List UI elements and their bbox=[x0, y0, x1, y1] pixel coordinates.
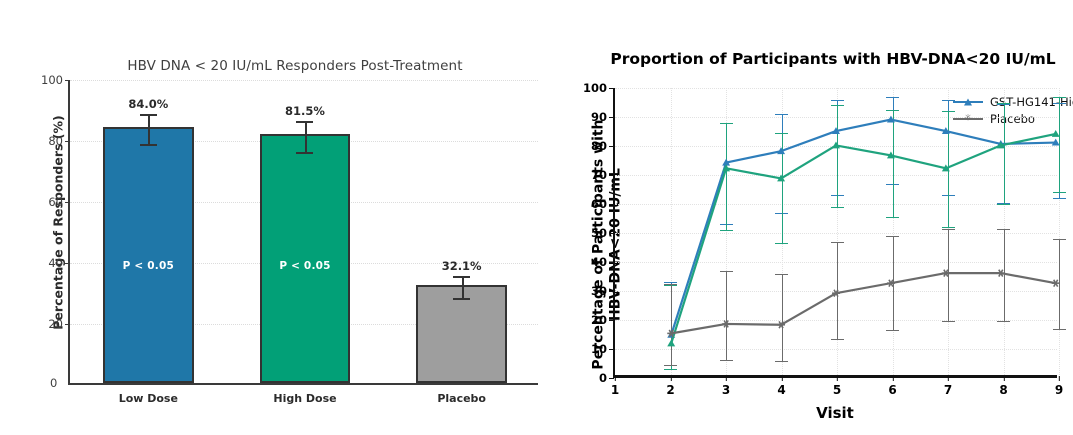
line-chart-plot-area: GST-HG141-High dose✳Placebo 010203040506… bbox=[613, 88, 1057, 378]
line-chart-marker bbox=[832, 141, 840, 148]
line-chart-y-tick: 50 bbox=[591, 226, 607, 240]
legend-swatch bbox=[953, 96, 983, 108]
line-chart-error-cap bbox=[997, 321, 1010, 322]
bar-chart-pvalue-annotation: P < 0.05 bbox=[260, 260, 351, 272]
bar-chart-bar-group: 81.5%P < 0.05High Dose bbox=[260, 80, 351, 383]
bar-chart-plot-area: 0 2040608010084.0%P < 0.05Low Dose81.5%P… bbox=[68, 80, 538, 385]
line-chart-error-cap bbox=[775, 274, 788, 275]
line-chart-series-layer bbox=[615, 88, 1057, 375]
bar-chart-error-cap bbox=[140, 114, 157, 116]
line-chart-error-cap bbox=[1053, 329, 1066, 330]
line-chart-gridline bbox=[615, 146, 1057, 147]
bar-chart-error-cap bbox=[453, 298, 470, 300]
line-chart-error-cap bbox=[775, 243, 788, 244]
bar-chart-y-tick: 100 bbox=[41, 73, 63, 87]
line-chart-error-cap bbox=[942, 229, 955, 230]
line-chart-error-cap bbox=[942, 100, 955, 101]
line-chart-error-cap bbox=[997, 229, 1010, 230]
line-chart-error-cap bbox=[720, 271, 733, 272]
line-chart-gridline bbox=[615, 233, 1057, 234]
line-chart-error-cap bbox=[775, 361, 788, 362]
bar-chart-error-bar bbox=[305, 121, 307, 152]
bar-chart-value-label: 32.1% bbox=[416, 259, 507, 273]
figure-panel: HBV DNA < 20 IU/mL Responders Post-Treat… bbox=[0, 0, 1073, 435]
bar-chart-error-cap bbox=[140, 144, 157, 146]
line-chart-error-cap bbox=[1053, 192, 1066, 193]
line-chart-x-tick: 7 bbox=[944, 383, 952, 397]
bar-chart-title: HBV DNA < 20 IU/mL Responders Post-Treat… bbox=[60, 58, 530, 74]
line-chart-gridline bbox=[615, 320, 1057, 321]
line-chart-error-bar bbox=[1059, 97, 1060, 193]
line-chart-x-tick: 4 bbox=[777, 383, 785, 397]
line-chart-x-tick: 1 bbox=[611, 383, 619, 397]
line-chart-y-tick: 30 bbox=[591, 284, 607, 298]
line-chart-error-bar bbox=[837, 242, 838, 339]
line-chart-gridline bbox=[615, 349, 1057, 350]
bar-chart-bar bbox=[260, 134, 351, 383]
line-chart-x-tick: 6 bbox=[888, 383, 896, 397]
line-chart-error-bar bbox=[948, 229, 949, 322]
legend-item[interactable]: ✳Placebo bbox=[953, 110, 1073, 127]
line-chart-gridline bbox=[615, 117, 1057, 118]
legend-swatch: ✳ bbox=[953, 113, 983, 125]
line-chart-marker bbox=[887, 151, 895, 158]
line-chart-y-tick: 40 bbox=[591, 255, 607, 269]
line-chart-error-cap bbox=[720, 230, 733, 231]
line-chart-y-tick: 0 bbox=[599, 371, 607, 385]
line-chart-error-cap bbox=[886, 110, 899, 111]
bar-chart-error-bar bbox=[148, 114, 150, 145]
line-chart-error-bar bbox=[893, 110, 894, 217]
line-chart-x-tick: 9 bbox=[1055, 383, 1063, 397]
line-chart-error-bar bbox=[726, 123, 727, 230]
line-chart-error-cap bbox=[1053, 198, 1066, 199]
line-chart-error-cap bbox=[775, 133, 788, 134]
star-marker-icon: ✳ bbox=[964, 114, 972, 123]
line-chart-error-cap bbox=[775, 114, 788, 115]
line-chart-series-line bbox=[671, 120, 1055, 335]
bar-chart-y-tick: 20 bbox=[48, 317, 63, 331]
line-chart-gridline bbox=[615, 204, 1057, 205]
line-chart-gridline bbox=[615, 291, 1057, 292]
line-chart-error-bar bbox=[726, 271, 727, 359]
bar-chart-error-cap bbox=[453, 276, 470, 278]
bar-chart-y-tick: 40 bbox=[48, 256, 63, 270]
line-chart-marker bbox=[887, 280, 895, 287]
bar-chart-pvalue-annotation: P < 0.05 bbox=[103, 260, 194, 272]
line-chart-gridline bbox=[615, 175, 1057, 176]
triangle-marker-icon bbox=[964, 98, 972, 105]
line-chart-y-tick: 20 bbox=[591, 313, 607, 327]
line-chart-error-cap bbox=[831, 105, 844, 106]
line-chart-y-axis-label-line1: Percentage of Participants with bbox=[590, 119, 606, 369]
line-chart: Proportion of Participants with HBV-DNA<… bbox=[545, 0, 1073, 435]
bar-chart-error-bar bbox=[462, 276, 464, 297]
line-chart-gridline bbox=[615, 88, 1057, 89]
bar-chart-x-tick-label: Low Dose bbox=[103, 392, 194, 405]
line-chart-error-cap bbox=[997, 204, 1010, 205]
line-chart-error-cap bbox=[664, 284, 677, 285]
line-chart-error-cap bbox=[1053, 97, 1066, 98]
bar-chart-x-tick-label: High Dose bbox=[260, 392, 351, 405]
line-chart-error-bar bbox=[948, 111, 949, 227]
bar-chart: HBV DNA < 20 IU/mL Responders Post-Treat… bbox=[0, 0, 560, 435]
line-chart-error-bar bbox=[1004, 229, 1005, 322]
line-chart-error-bar bbox=[837, 105, 838, 207]
line-chart-y-tick: 10 bbox=[591, 342, 607, 356]
line-chart-error-cap bbox=[942, 111, 955, 112]
line-chart-error-bar bbox=[782, 274, 783, 361]
line-chart-error-cap bbox=[886, 330, 899, 331]
line-chart-error-cap bbox=[1053, 239, 1066, 240]
bar-chart-error-cap bbox=[296, 121, 313, 123]
line-chart-error-cap bbox=[997, 103, 1010, 104]
line-chart-error-bar bbox=[782, 133, 783, 243]
line-chart-error-cap bbox=[831, 339, 844, 340]
bar-chart-y-tick: 60 bbox=[48, 195, 63, 209]
line-chart-y-tick: 100 bbox=[583, 81, 607, 95]
line-chart-x-tick: 8 bbox=[999, 383, 1007, 397]
line-chart-y-tick: 70 bbox=[591, 168, 607, 182]
line-chart-error-cap bbox=[886, 236, 899, 237]
line-chart-y-tick: 90 bbox=[591, 110, 607, 124]
line-chart-error-cap bbox=[831, 207, 844, 208]
line-chart-legend: GST-HG141-High dose✳Placebo bbox=[953, 93, 1073, 127]
line-chart-x-tick: 5 bbox=[833, 383, 841, 397]
bar-chart-bar bbox=[416, 285, 507, 383]
line-chart-error-cap bbox=[886, 97, 899, 98]
line-chart-error-bar bbox=[893, 236, 894, 330]
line-chart-y-tick: 80 bbox=[591, 139, 607, 153]
line-chart-y-tick: 60 bbox=[591, 197, 607, 211]
bar-chart-value-label: 84.0% bbox=[103, 97, 194, 111]
line-chart-gridline bbox=[615, 262, 1057, 263]
line-chart-error-cap bbox=[720, 360, 733, 361]
line-chart-marker bbox=[832, 127, 840, 134]
bar-chart-bar bbox=[103, 127, 194, 383]
line-chart-error-cap bbox=[886, 217, 899, 218]
line-chart-error-bar bbox=[1004, 103, 1005, 205]
bar-chart-y-tick: 80 bbox=[48, 134, 63, 148]
bar-chart-error-cap bbox=[296, 152, 313, 154]
line-chart-error-cap bbox=[664, 369, 677, 370]
line-chart-error-cap bbox=[720, 123, 733, 124]
bar-chart-y-tick-zero: 0 bbox=[50, 376, 57, 390]
bar-chart-bar-group: 32.1%Placebo bbox=[416, 80, 507, 383]
line-chart-error-bar bbox=[1059, 239, 1060, 329]
bar-chart-bar-group: 84.0%P < 0.05Low Dose bbox=[103, 80, 194, 383]
line-chart-title: Proportion of Participants with HBV-DNA<… bbox=[593, 50, 1073, 68]
legend-item-label: Placebo bbox=[990, 112, 1035, 126]
line-chart-x-axis-label: Visit bbox=[613, 404, 1057, 422]
bar-chart-x-tick-label: Placebo bbox=[416, 392, 507, 405]
line-chart-error-bar bbox=[671, 284, 672, 365]
line-chart-error-cap bbox=[942, 321, 955, 322]
legend-item[interactable]: GST-HG141-High dose bbox=[953, 93, 1073, 110]
line-chart-error-cap bbox=[831, 100, 844, 101]
line-chart-x-tick: 3 bbox=[722, 383, 730, 397]
line-chart-error-cap bbox=[664, 365, 677, 366]
bar-chart-value-label: 81.5% bbox=[260, 104, 351, 118]
line-chart-series-line bbox=[671, 134, 1055, 344]
line-chart-series-line bbox=[671, 273, 1055, 333]
line-chart-x-tick: 2 bbox=[666, 383, 674, 397]
line-chart-error-cap bbox=[831, 242, 844, 243]
